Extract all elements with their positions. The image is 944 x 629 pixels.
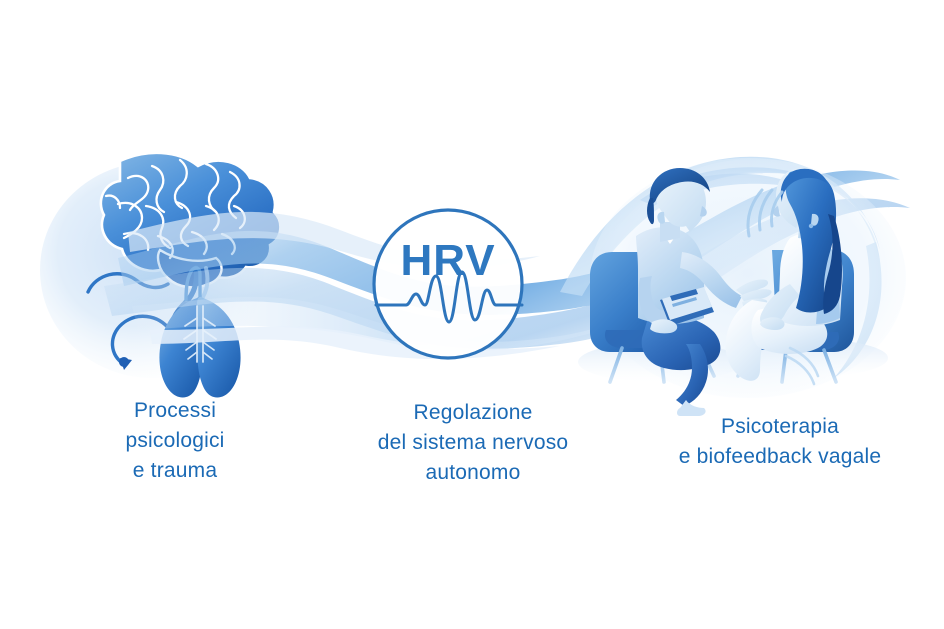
hrv-circle-icon: HRV — [374, 210, 522, 358]
stage-caption-center: Regolazione del sistema nervoso autonomo — [318, 398, 628, 487]
stage-caption-left: Processi psicologici e trauma — [30, 396, 320, 485]
right-illustration-group — [578, 158, 906, 416]
infographic-illustration: HRV — [0, 0, 944, 629]
hrv-label: HRV — [400, 236, 495, 285]
stage-caption-right: Psicoterapia e biofeedback vagale — [620, 412, 940, 472]
infographic-canvas: HRV Processi psicologici e trauma Regola… — [0, 0, 944, 629]
